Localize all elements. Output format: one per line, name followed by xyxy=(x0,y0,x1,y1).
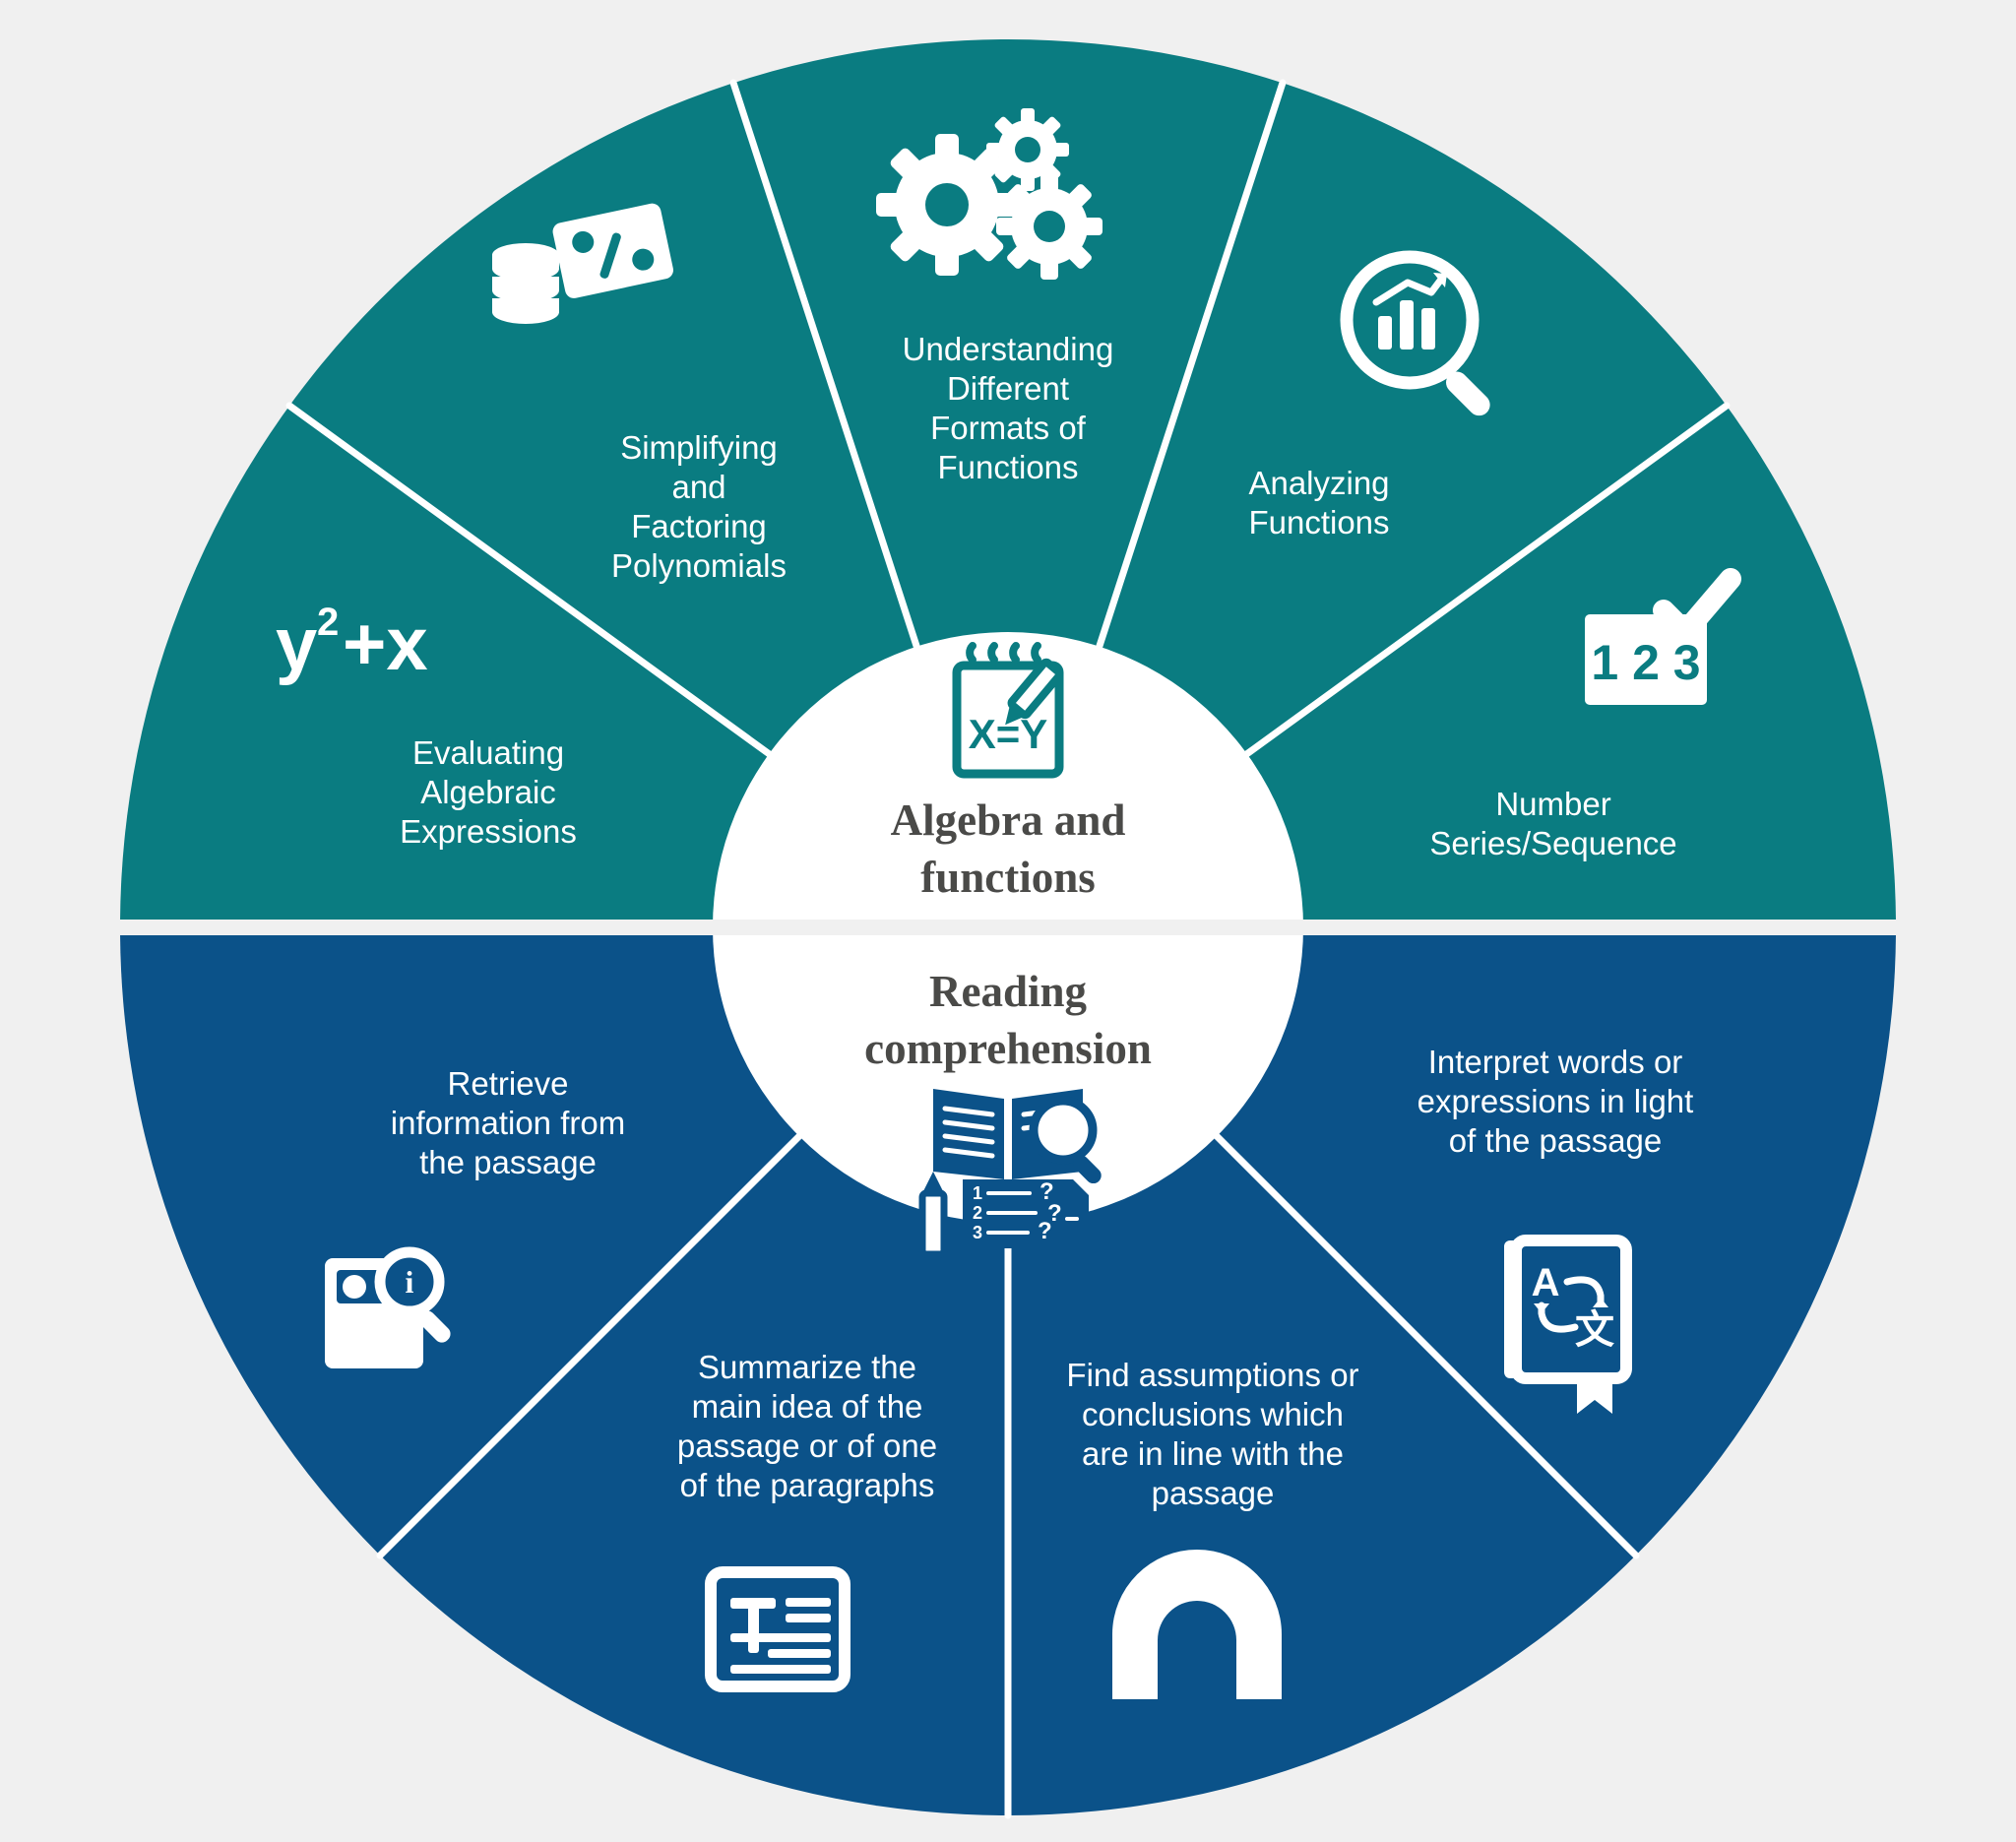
svg-text:Reading: Reading xyxy=(929,967,1088,1016)
svg-text:information from: information from xyxy=(391,1105,625,1141)
svg-text:functions: functions xyxy=(920,853,1096,902)
svg-text:Polynomials: Polynomials xyxy=(611,547,787,584)
svg-text:Summarize the: Summarize the xyxy=(698,1349,916,1385)
svg-text:i: i xyxy=(406,1264,414,1300)
one-two-three-text: 1 2 3 xyxy=(1591,635,1700,690)
y-squared-superscript: 2 xyxy=(317,601,339,644)
svg-text:Understanding: Understanding xyxy=(903,331,1114,367)
svg-text:Find assumptions or: Find assumptions or xyxy=(1066,1357,1358,1393)
svg-text:and: and xyxy=(671,469,725,505)
svg-text:of the passage: of the passage xyxy=(1449,1122,1663,1159)
svg-text:the passage: the passage xyxy=(419,1144,597,1180)
svg-text:expressions in light: expressions in light xyxy=(1417,1083,1694,1119)
svg-text:passage: passage xyxy=(1152,1475,1275,1511)
plus-x-text: +x xyxy=(343,603,428,686)
svg-text:Functions: Functions xyxy=(937,449,1078,485)
svg-text:Formats of: Formats of xyxy=(930,410,1087,446)
svg-text:?: ? xyxy=(1038,1218,1052,1244)
svg-text:Expressions: Expressions xyxy=(400,813,577,850)
svg-text:Interpret words or: Interpret words or xyxy=(1428,1044,1683,1080)
svg-text:main idea of the: main idea of the xyxy=(692,1388,923,1425)
svg-text:2: 2 xyxy=(973,1203,982,1223)
svg-text:Series/Sequence: Series/Sequence xyxy=(1429,825,1676,861)
svg-text:文: 文 xyxy=(1575,1308,1614,1352)
svg-text:Evaluating: Evaluating xyxy=(412,734,564,771)
svg-text:Number: Number xyxy=(1495,786,1610,822)
svg-text:Analyzing: Analyzing xyxy=(1248,465,1389,501)
diagram-canvas: y 2 +x xyxy=(0,0,2016,1842)
circular-topic-wheel: y 2 +x xyxy=(0,0,2016,1842)
svg-text:comprehension: comprehension xyxy=(864,1024,1152,1073)
svg-text:of the paragraphs: of the paragraphs xyxy=(680,1467,935,1503)
svg-text:are in line with the: are in line with the xyxy=(1082,1435,1344,1472)
svg-text:Algebra and: Algebra and xyxy=(891,795,1126,845)
svg-text:Factoring: Factoring xyxy=(631,508,767,544)
svg-text:Simplifying: Simplifying xyxy=(620,429,778,466)
svg-text:conclusions which: conclusions which xyxy=(1082,1396,1344,1432)
svg-text:passage or of one: passage or of one xyxy=(677,1428,937,1464)
svg-text:Algebraic: Algebraic xyxy=(420,774,556,810)
svg-text:Retrieve: Retrieve xyxy=(448,1065,569,1102)
svg-text:Functions: Functions xyxy=(1248,504,1389,540)
label-evaluating-algebraic-expressions: Evaluating Algebraic Expressions xyxy=(400,734,577,850)
y-squared-plus-x-glyph: y 2 +x xyxy=(276,601,428,686)
label-interpret-words-or-expressions: Interpret words or expressions in light … xyxy=(1417,1044,1694,1159)
svg-text:3: 3 xyxy=(973,1223,982,1242)
svg-text:A: A xyxy=(1532,1261,1560,1304)
y-squared-plus-x-text: y xyxy=(276,603,317,686)
svg-text:Different: Different xyxy=(947,370,1069,407)
svg-text:1: 1 xyxy=(973,1183,982,1203)
